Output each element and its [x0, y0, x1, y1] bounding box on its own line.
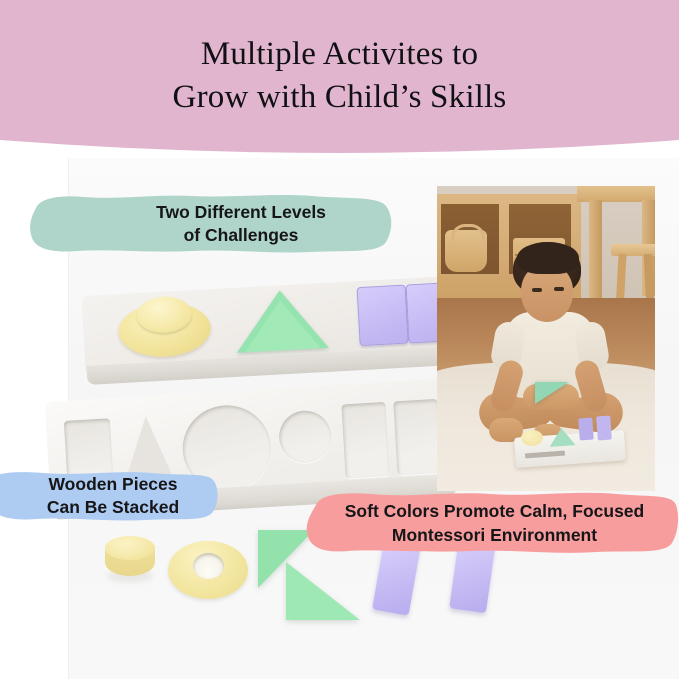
callout-line-2: Montessori Environment	[345, 523, 644, 547]
page-title-line-2: Grow with Child’s Skills	[0, 76, 679, 119]
lifestyle-photo	[437, 186, 655, 491]
yellow-stacked-circle-piece	[117, 294, 212, 361]
callout-wooden-pieces-stacked: Wooden Pieces Can Be Stacked	[0, 469, 220, 523]
photo-green-triangle-piece	[548, 427, 575, 447]
callout-line-1: Soft Colors Promote Calm, Focused	[345, 499, 644, 523]
callout-line-2: Can Be Stacked	[47, 496, 179, 519]
product-infographic: Multiple Activites to Grow with Child’s …	[0, 0, 679, 679]
callout-two-different-levels: Two Different Levels of Challenges	[26, 192, 396, 256]
page-title-line-1: Multiple Activites to	[0, 33, 679, 76]
callout-text: Wooden Pieces Can Be Stacked	[29, 473, 179, 519]
callout-line-1: Two Different Levels	[156, 201, 326, 224]
cylinder-top	[105, 536, 155, 560]
basket-handle	[451, 224, 485, 241]
callout-text: Two Different Levels of Challenges	[96, 201, 326, 247]
ring-hole	[193, 553, 224, 579]
purple-rectangle-piece	[357, 285, 409, 347]
child-eye	[532, 288, 542, 292]
callout-text: Soft Colors Promote Calm, Focused Montes…	[339, 499, 644, 547]
callout-line-2: of Challenges	[156, 224, 326, 247]
callout-line-1: Wooden Pieces	[47, 473, 179, 496]
held-green-triangle-piece	[535, 382, 569, 404]
table-leg	[589, 200, 602, 304]
header-banner: Multiple Activites to Grow with Child’s …	[0, 0, 679, 158]
yellow-ring-piece	[168, 533, 248, 605]
child-eye	[554, 287, 564, 291]
green-triangle-piece	[286, 562, 360, 620]
filled-puzzle-board	[82, 276, 457, 392]
child-hair-front	[517, 242, 579, 274]
yellow-cylinder-piece	[105, 536, 155, 580]
triangle-highlight	[242, 298, 321, 352]
rectangle-slot	[393, 399, 441, 475]
rectangle-slot	[341, 402, 389, 478]
green-triangle-piece	[234, 288, 329, 355]
callout-soft-colors-montessori: Soft Colors Promote Calm, Focused Montes…	[304, 489, 679, 557]
photo-purple-bar-piece	[578, 418, 594, 441]
page-title: Multiple Activites to Grow with Child’s …	[0, 33, 679, 119]
photo-purple-bar-piece	[596, 416, 612, 441]
